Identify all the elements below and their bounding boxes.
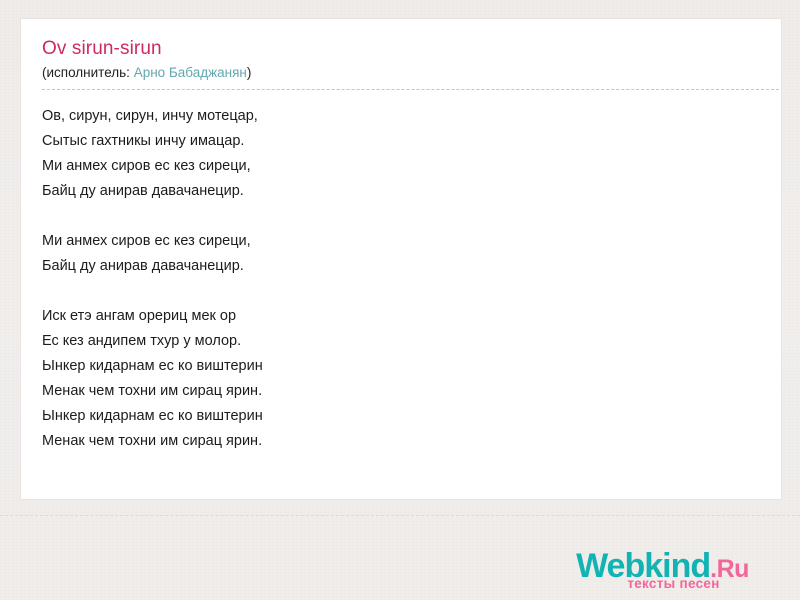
lyrics-line: Ынкер кидарнам ес ко виштерин xyxy=(42,404,761,429)
lyrics-line: Менак чем тохни им сирац ярин. xyxy=(42,379,761,404)
lyrics-card: Ov sirun-sirun (исполнитель: Арно Бабадж… xyxy=(20,18,782,500)
site-logo[interactable]: Webkind.Ru тексты песен xyxy=(555,549,770,591)
card-content: Ov sirun-sirun (исполнитель: Арно Бабадж… xyxy=(21,19,781,454)
lyrics-line: Сытыс гахтникы инчу имацар. xyxy=(42,129,761,154)
performer-suffix-label: ) xyxy=(247,65,252,80)
page-title: Ov sirun-sirun xyxy=(42,37,761,61)
lyrics-blank-line xyxy=(42,204,761,229)
lyrics-line: Ми анмех сиров ес кез сиреци, xyxy=(42,229,761,254)
lyrics-line: Ынкер кидарнам ес ко виштерин xyxy=(42,354,761,379)
lyrics-line: Байц ду анирав давачанецир. xyxy=(42,254,761,279)
page-divider-rule xyxy=(0,515,800,516)
performer-line: (исполнитель: Арно Бабаджанян) xyxy=(42,64,761,89)
lyrics-line: Иск етэ ангам орериц мек ор xyxy=(42,304,761,329)
lyrics-blank-line xyxy=(42,279,761,304)
performer-link[interactable]: Арно Бабаджанян xyxy=(134,65,247,80)
lyrics-line: Ес кез андипем тхур у молор. xyxy=(42,329,761,354)
lyrics-line: Менак чем тохни им сирац ярин. xyxy=(42,429,761,454)
lyrics-text: Ов, сирун, сирун, инчу мотецар,Сытыс гах… xyxy=(42,90,761,454)
lyrics-line: Ми анмех сиров ес кез сиреци, xyxy=(42,154,761,179)
lyrics-line: Байц ду анирав давачанецир. xyxy=(42,179,761,204)
performer-prefix-label: (исполнитель: xyxy=(42,65,130,80)
lyrics-line: Ов, сирун, сирун, инчу мотецар, xyxy=(42,104,761,129)
